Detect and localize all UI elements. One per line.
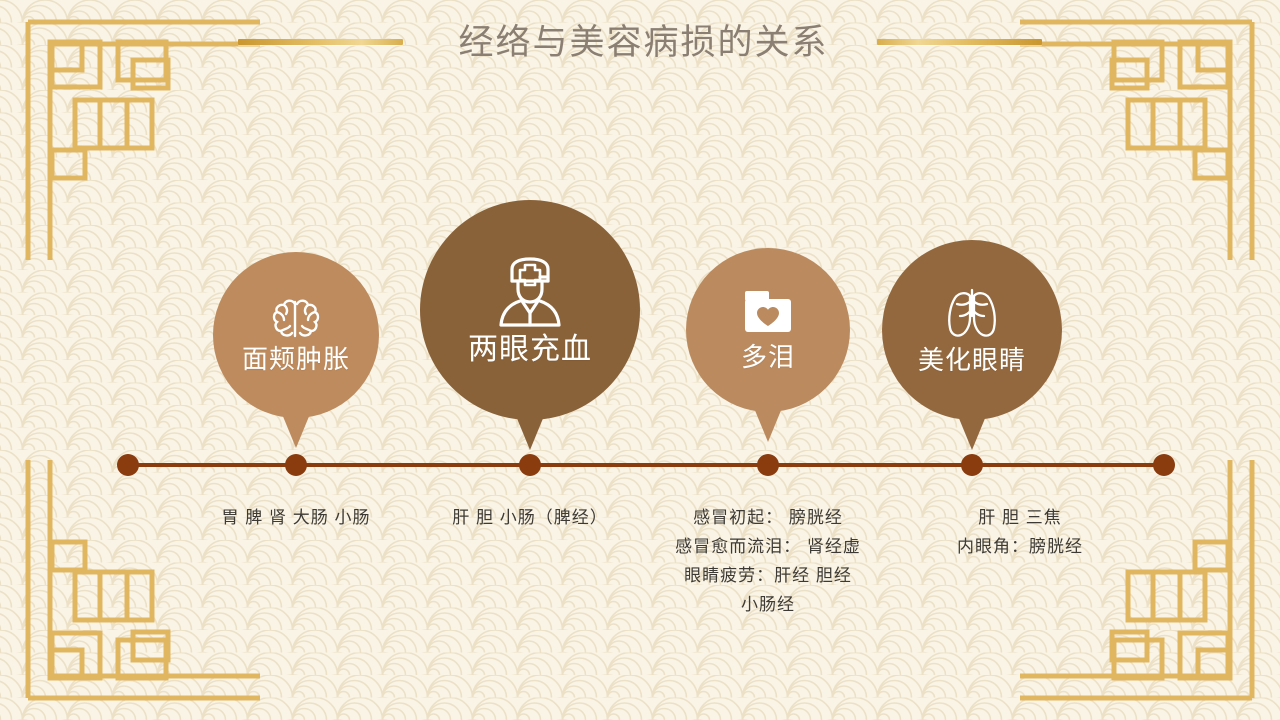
timeline-dot-end [1153, 454, 1175, 476]
bubble-tail-node-3 [754, 408, 782, 442]
lungs-icon [943, 286, 1001, 342]
bubble-tail-node-4 [958, 416, 986, 450]
caption-node-3: 感冒初起： 膀胱经 感冒愈而流泪： 肾经虚 眼睛疲劳：肝经 胆经 小肠经 [675, 503, 861, 619]
title-rule-right-decoration [877, 39, 1042, 45]
page-title: 经络与美容病损的关系 [458, 25, 828, 60]
caption-line: 眼睛疲劳：肝经 胆经 [675, 561, 861, 590]
timeline-dot-node-2[interactable] [519, 454, 541, 476]
caption-node-2: 肝 胆 小肠（脾经） [452, 503, 607, 532]
caption-line: 内眼角：膀胱经 [957, 532, 1083, 561]
bubble-label-node-2: 两眼充血 [468, 333, 592, 366]
seigaiha-background-pattern [0, 0, 1280, 720]
timeline-dot-node-1[interactable] [285, 454, 307, 476]
bubble-label-node-3: 多泪 [741, 343, 795, 372]
title-bar: 经络与美容病损的关系 [0, 14, 1280, 70]
slide-canvas: 经络与美容病损的关系 面颊肿胀 [0, 0, 1280, 720]
bubble-label-node-1: 面颊肿胀 [242, 345, 350, 374]
timeline-dot-node-4[interactable] [961, 454, 983, 476]
title-rule-left-decoration [238, 39, 403, 45]
bubble-node-1[interactable]: 面颊肿胀 [213, 252, 379, 418]
bubble-node-4[interactable]: 美化眼睛 [882, 240, 1062, 420]
timeline-dot-node-3[interactable] [757, 454, 779, 476]
caption-line: 肝 胆 三焦 [957, 503, 1083, 532]
caption-node-4: 肝 胆 三焦 内眼角：膀胱经 [957, 503, 1083, 561]
bubble-node-3[interactable]: 多泪 [686, 248, 850, 412]
caption-node-1: 胃 脾 肾 大肠 小肠 [222, 503, 371, 532]
caption-line: 感冒初起： 膀胱经 [675, 503, 861, 532]
caption-line: 胃 脾 肾 大肠 小肠 [222, 503, 371, 532]
bubble-tail-node-1 [282, 414, 310, 448]
folder-heart-icon [739, 289, 797, 339]
caption-line: 感冒愈而流泪： 肾经虚 [675, 532, 861, 561]
caption-line: 小肠经 [675, 590, 861, 619]
corner-ornament-bottom-right [1020, 460, 1280, 720]
timeline-dot-start [117, 454, 139, 476]
bubble-label-node-4: 美化眼睛 [918, 346, 1026, 375]
timeline-axis [122, 463, 1166, 467]
caption-line: 肝 胆 小肠（脾经） [452, 503, 607, 532]
bubble-tail-node-2 [516, 416, 544, 450]
bubble-node-2[interactable]: 两眼充血 [420, 200, 640, 420]
corner-ornament-bottom-left [0, 460, 260, 720]
brain-icon [270, 297, 322, 341]
doctor-icon [492, 255, 568, 329]
